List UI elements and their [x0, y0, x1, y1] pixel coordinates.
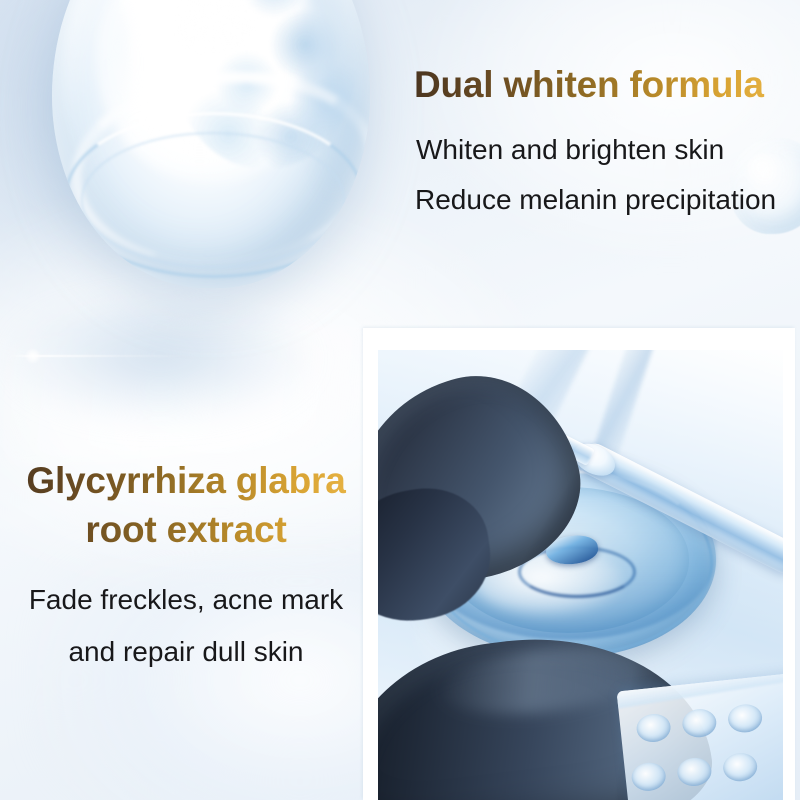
lab-photo — [378, 350, 783, 800]
left-benefit-line-1: Fade freckles, acne mark — [0, 581, 372, 618]
well-plate — [617, 673, 783, 800]
well-plate-row — [630, 751, 758, 792]
left-heading-line-1: Glycyrrhiza glabra — [0, 456, 372, 505]
well — [681, 707, 718, 738]
glass-bowl-shadow — [10, 300, 310, 420]
well — [676, 756, 713, 787]
glass-bowl-inner-rim — [81, 132, 346, 268]
top-heading: Dual whiten formula — [414, 62, 800, 108]
well — [630, 761, 667, 792]
well-plate-row — [635, 703, 763, 744]
top-benefit-line-2: Reduce melanin precipitation — [415, 181, 800, 218]
glass-bowl-body — [52, 0, 370, 288]
well — [722, 751, 759, 782]
left-benefit-line-2: and repair dull skin — [0, 633, 372, 670]
lab-photo-frame — [363, 328, 795, 800]
product-feature-poster: Dual whiten formula Whiten and brighten … — [0, 0, 800, 800]
well — [635, 712, 672, 743]
glass-bowl-image — [52, 0, 370, 288]
well — [727, 703, 764, 734]
left-text-block: Glycyrrhiza glabra root extract Fade fre… — [0, 456, 372, 670]
top-text-block: Dual whiten formula Whiten and brighten … — [414, 62, 800, 218]
left-heading-line-2: root extract — [0, 505, 372, 554]
top-benefit-line-1: Whiten and brighten skin — [416, 131, 800, 168]
